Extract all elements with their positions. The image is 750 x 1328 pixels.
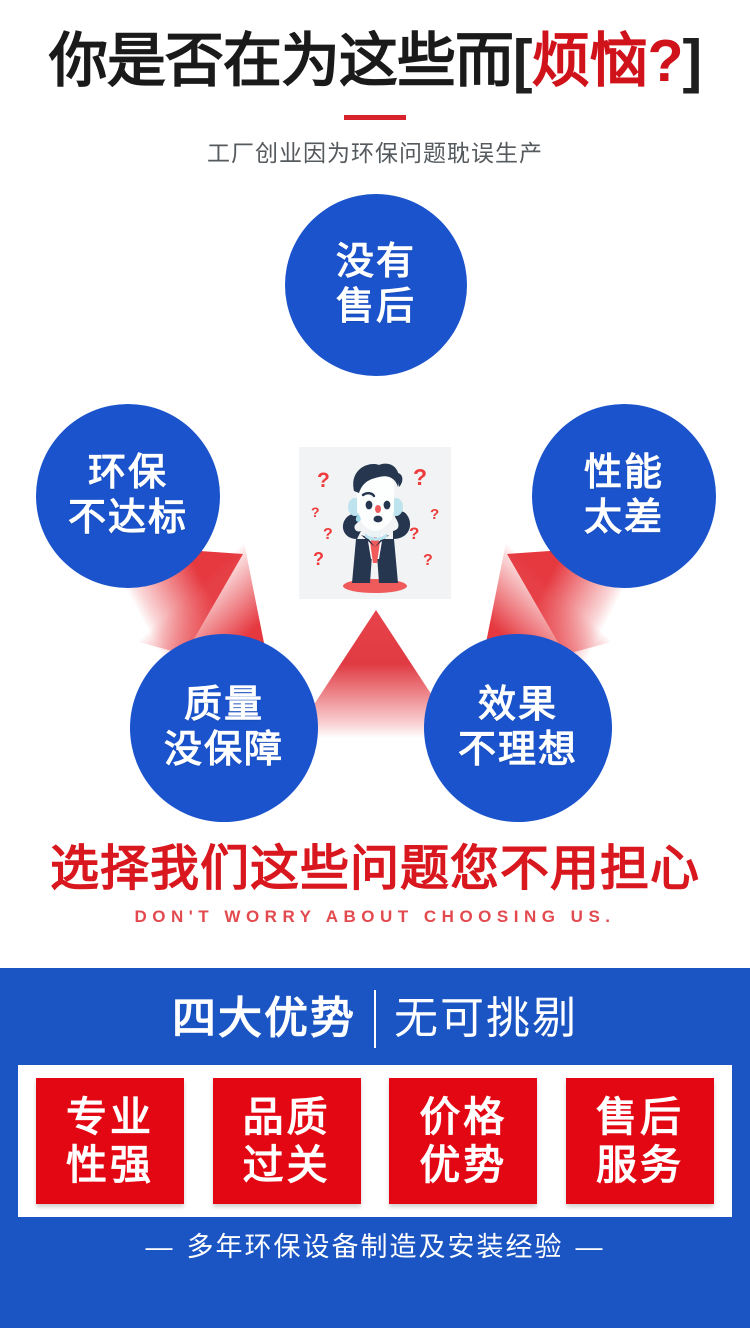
footer-dash-left: — [146,1230,175,1264]
bubble-poor-performance[interactable]: 性能 太差 [532,404,716,588]
bubble-line-1: 质量 [184,683,264,728]
bubble-line-2: 不理想 [458,728,578,773]
card-line-1: 品质 [243,1093,331,1141]
bubble-no-aftersales[interactable]: 没有 售后 [285,194,467,376]
infographic-page: 你是否在为这些而[烦恼?] 工厂创业因为环保问题耽误生产 ? ? ? ? ? ? [0,0,750,1328]
bubble-line-1: 效果 [478,683,558,728]
bubble-no-quality-guarantee[interactable]: 质量 没保障 [130,634,318,822]
page-subtitle: 工厂创业因为环保问题耽误生产 [0,138,750,168]
svg-text:?: ? [413,464,427,490]
bubble-line-2: 太差 [584,496,664,541]
pain-points-diagram: ? ? ? ? ? ? ? ? [0,182,750,822]
slogan-chinese: 选择我们这些问题您不用担心 [0,840,750,898]
footer-text: 多年环保设备制造及安装经验 [187,1232,564,1262]
card-line-2: 优势 [419,1141,507,1189]
svg-text:?: ? [313,549,324,569]
advantage-card-quality[interactable]: 品质 过关 [213,1078,361,1204]
advantage-card-professional[interactable]: 专业 性强 [36,1078,184,1204]
slogan-english: DON'T WORRY ABOUT CHOOSING US. [0,905,750,929]
title-highlight-text: 烦恼? [531,28,682,94]
bubble-line-1: 没有 [336,240,416,285]
bubble-line-2: 售后 [336,285,416,330]
title-divider-rule [344,115,406,120]
banner-footer: —多年环保设备制造及安装经验— [0,1230,750,1264]
bubble-env-substandard[interactable]: 环保 不达标 [36,404,220,588]
banner-heading-divider [374,990,376,1048]
svg-text:?: ? [311,504,320,520]
svg-text:?: ? [423,552,433,569]
advantage-card-aftersales[interactable]: 售后 服务 [566,1078,714,1204]
header-section: 你是否在为这些而[烦恼?] 工厂创业因为环保问题耽误生产 [0,0,750,180]
card-line-2: 过关 [243,1141,331,1189]
bubble-line-1: 性能 [584,451,664,496]
card-line-1: 售后 [596,1093,684,1141]
card-line-1: 专业 [66,1093,154,1141]
advantages-banner: 四大优势 无可挑剔 专业 性强 品质 过关 价格 优势 售后 服务 —多年环保 [0,968,750,1328]
card-line-1: 价格 [419,1093,507,1141]
svg-text:?: ? [430,506,439,523]
bubble-unsatisfactory-result[interactable]: 效果 不理想 [424,634,612,822]
banner-heading-strong: 四大优势 [172,993,356,1045]
bubble-line-2: 没保障 [164,728,284,773]
svg-text:?: ? [409,524,419,543]
title-bracket-close: ] [683,28,702,94]
footer-dash-right: — [576,1230,605,1264]
bubble-line-2: 不达标 [68,496,188,541]
advantage-card-price[interactable]: 价格 优势 [389,1078,537,1204]
svg-text:?: ? [323,526,333,543]
confused-businessman-icon: ? ? ? ? ? ? ? ? [299,447,451,599]
banner-heading-light: 无可挑剔 [394,993,578,1045]
card-line-2: 性强 [66,1141,154,1189]
banner-heading: 四大优势 无可挑剔 [0,988,750,1050]
svg-text:?: ? [317,469,330,492]
card-line-2: 服务 [596,1141,684,1189]
title-main-text: 你是否在为这些而 [49,28,513,94]
advantage-cards-row: 专业 性强 品质 过关 价格 优势 售后 服务 [18,1065,732,1217]
title-bracket-open: [ [513,28,532,94]
bubble-line-1: 环保 [88,451,168,496]
page-title: 你是否在为这些而[烦恼?] [0,28,750,94]
